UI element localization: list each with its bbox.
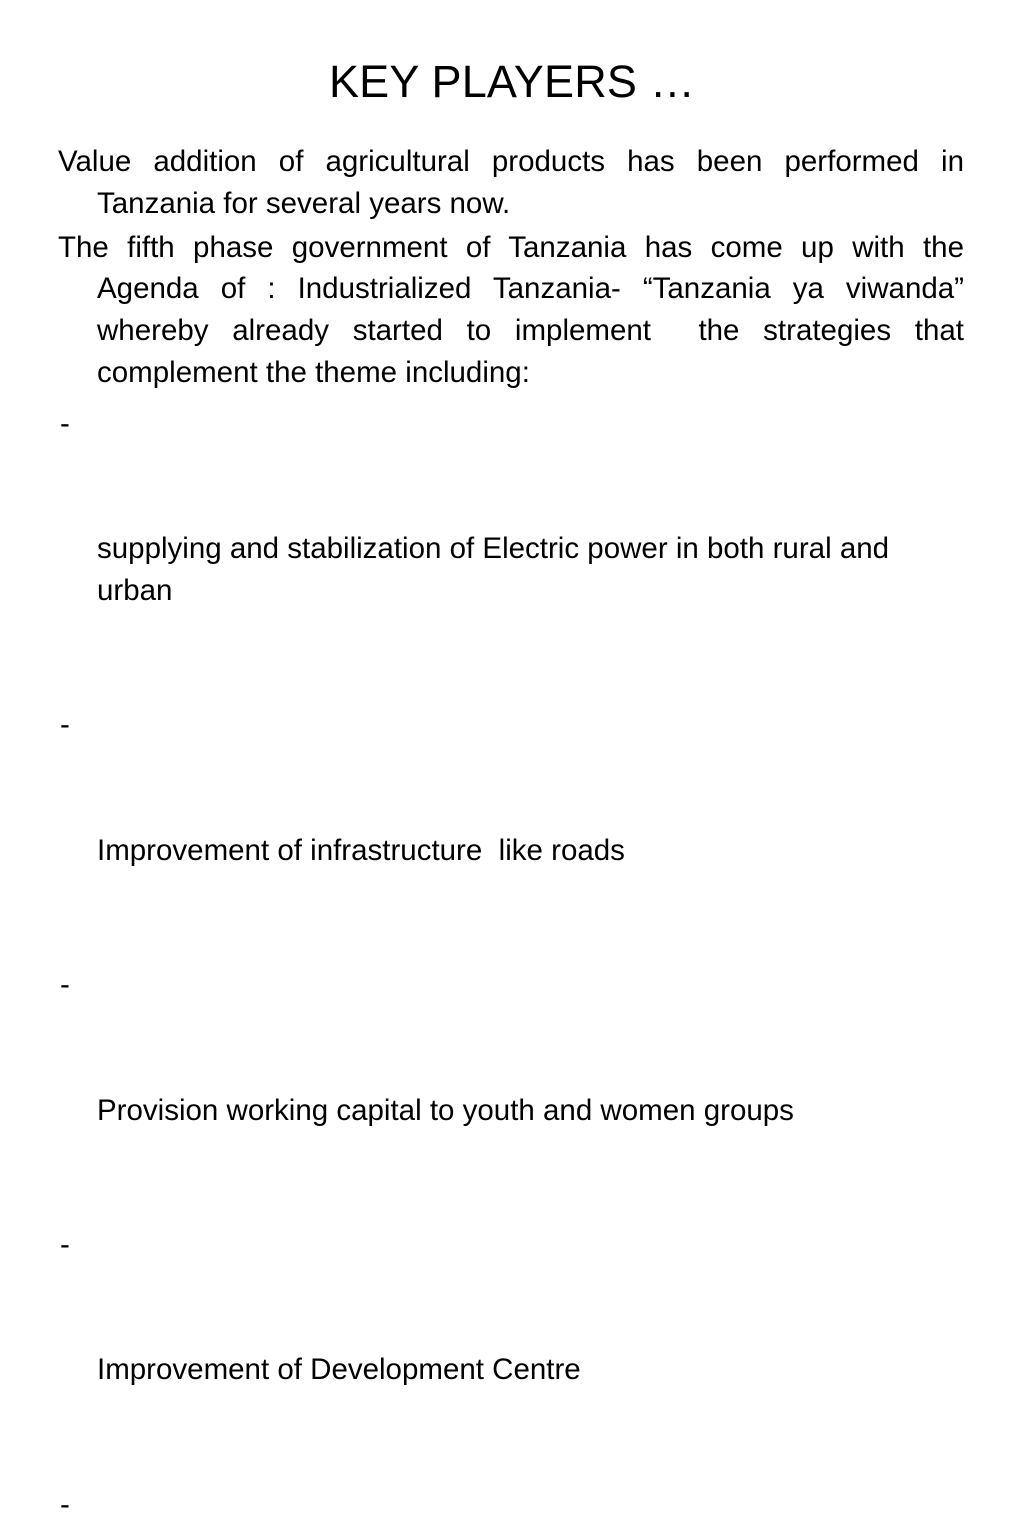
- bullet-marker-icon: -: [60, 704, 70, 746]
- list-item: - Improvement of Development Centre: [58, 1224, 964, 1475]
- slide-body: Value addition of agricultural products …: [58, 141, 964, 1536]
- list-item-label: Improvement of Development Centre: [97, 1349, 964, 1391]
- list-item: - Construction of Industrial estates/par…: [58, 1484, 964, 1536]
- list-item: - supplying and stabilization of Electri…: [58, 403, 964, 696]
- body-paragraph-2: The fifth phase government of Tanzania h…: [58, 227, 964, 394]
- list-item: - Improvement of infrastructure like roa…: [58, 704, 964, 955]
- body-paragraph-1: Value addition of agricultural products …: [58, 141, 964, 225]
- bullet-list: - supplying and stabilization of Electri…: [58, 403, 964, 1536]
- page-title: KEY PLAYERS …: [0, 56, 1024, 108]
- slide-canvas: KEY PLAYERS … Value addition of agricult…: [0, 0, 1024, 768]
- list-item-label: supplying and stabilization of Electric …: [97, 528, 964, 612]
- bullet-marker-icon: -: [60, 1484, 70, 1526]
- bullet-marker-icon: -: [60, 964, 70, 1006]
- list-item: - Provision working capital to youth and…: [58, 964, 964, 1215]
- bullet-marker-icon: -: [60, 403, 70, 445]
- list-item-label: Provision working capital to youth and w…: [97, 1090, 964, 1132]
- list-item-label: Improvement of infrastructure like roads: [97, 830, 964, 872]
- bullet-marker-icon: -: [60, 1224, 70, 1266]
